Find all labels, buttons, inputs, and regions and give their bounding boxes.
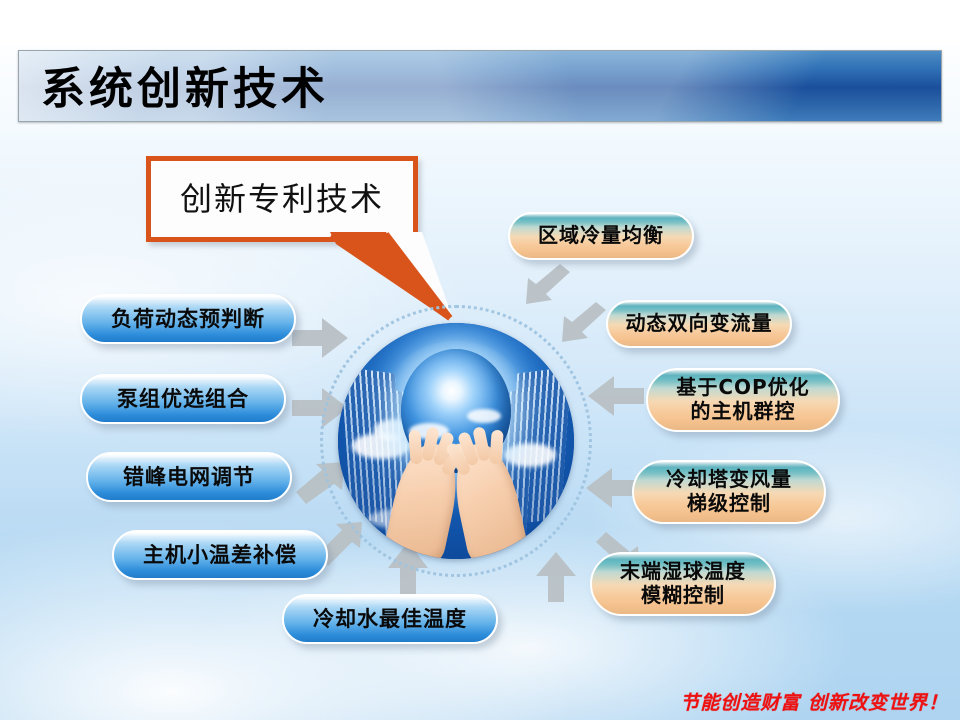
pill-label-line1: 冷却塔变风量 [666, 468, 792, 492]
pill-label: 主机小温差补偿 [143, 543, 297, 568]
pill-dynamic-bidirectional-variable-flow[interactable]: 动态双向变流量 [606, 300, 792, 348]
top-white-strip [0, 0, 960, 46]
pill-label: 区域冷量均衡 [538, 224, 664, 248]
hands-holding-globe-image [338, 323, 574, 559]
pill-label-line2: 梯级控制 [687, 492, 771, 516]
footer-slogan: 节能创造财富 创新改变世界！ [680, 688, 948, 715]
pill-regional-cooling-balance[interactable]: 区域冷量均衡 [508, 212, 694, 260]
finger [408, 430, 422, 465]
slide-canvas: 系统创新技术 创新专利技术 [0, 0, 960, 720]
center-image-wrap [320, 305, 592, 577]
pill-label: 负荷动态预判断 [111, 307, 265, 332]
pill-load-dynamic-prediction[interactable]: 负荷动态预判断 [80, 294, 296, 344]
pill-peak-shifting-grid-regulation[interactable]: 错峰电网调节 [86, 452, 292, 502]
pill-label-line1: 末端湿球温度 [620, 560, 746, 584]
pill-chiller-small-temp-diff-compensation[interactable]: 主机小温差补偿 [112, 530, 328, 580]
cloud-icon [467, 409, 501, 423]
pill-cop-based-chiller-group-control[interactable]: 基于COP优化 的主机群控 [646, 368, 840, 432]
pill-label-line2: 的主机群控 [691, 400, 796, 424]
pill-pump-group-optimal-combination[interactable]: 泵组优选组合 [80, 374, 286, 424]
pill-label: 错峰电网调节 [123, 465, 255, 490]
pill-label: 泵组优选组合 [117, 387, 249, 412]
pill-terminal-wet-bulb-fuzzy-control[interactable]: 末端湿球温度 模糊控制 [590, 552, 776, 616]
pill-cooling-water-optimal-temperature[interactable]: 冷却水最佳温度 [282, 594, 498, 644]
pill-cooling-tower-variable-air-staged-control[interactable]: 冷却塔变风量 梯级控制 [632, 460, 826, 524]
title-banner: 系统创新技术 [18, 50, 942, 122]
finger [489, 430, 503, 465]
pill-label: 动态双向变流量 [626, 312, 773, 336]
pill-label: 冷却水最佳温度 [313, 607, 467, 632]
pill-label-line2: 模糊控制 [641, 584, 725, 608]
page-title: 系统创新技术 [41, 53, 329, 117]
arrow-left-icon [588, 376, 644, 416]
callout-box: 创新专利技术 [146, 156, 418, 242]
pill-label-line1: 基于COP优化 [676, 376, 809, 400]
callout-label: 创新专利技术 [151, 174, 413, 220]
